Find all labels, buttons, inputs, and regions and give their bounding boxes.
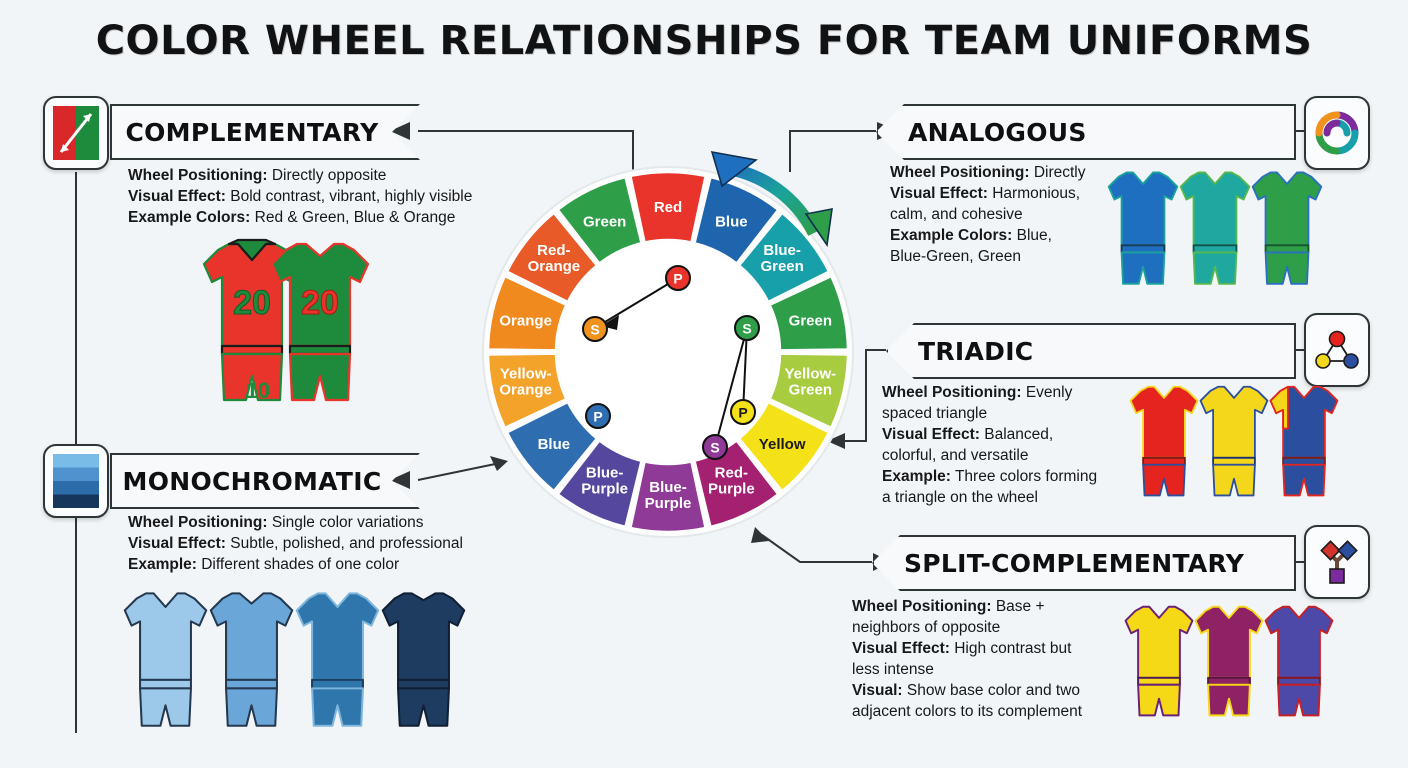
monochromatic-heading: MONOCHROMATIC bbox=[123, 467, 382, 496]
triadic-uniform-2 bbox=[1195, 378, 1273, 505]
monochromatic-uniform-2 bbox=[204, 583, 299, 736]
wheel-marker-s[interactable]: S bbox=[735, 316, 759, 340]
wheel-segment-label: Orange bbox=[499, 313, 552, 330]
triadic-body: Wheel Positioning: Evenly spaced triangl… bbox=[882, 382, 1132, 508]
wheel-segment-label: Blue-Green bbox=[760, 242, 803, 275]
analogous-ribbon[interactable]: ANALOGOUS bbox=[876, 104, 1296, 160]
row-value: Single color variations bbox=[272, 514, 424, 531]
svg-text:P: P bbox=[593, 409, 602, 425]
wheel-segment-label: Green bbox=[789, 313, 832, 330]
wheel-marker-p[interactable]: P bbox=[666, 266, 690, 290]
wheel-segment-label: Yellow-Green bbox=[784, 365, 836, 398]
wheel-segment-label: Yellow bbox=[759, 436, 806, 453]
svg-text:S: S bbox=[590, 322, 599, 338]
svg-text:S: S bbox=[710, 440, 719, 456]
complementary-swatch-icon bbox=[53, 106, 99, 160]
svg-text:20: 20 bbox=[301, 284, 339, 322]
split-complementary-ribbon[interactable]: SPLIT-COMPLEMENTARY bbox=[872, 535, 1296, 591]
row-value: Red & Green, Blue & Orange bbox=[255, 209, 456, 226]
wheel-segment-label: Blue bbox=[538, 436, 571, 453]
row-label: Wheel Positioning: bbox=[882, 384, 1022, 401]
complementary-ribbon[interactable]: COMPLEMENTARY bbox=[110, 104, 420, 160]
split-complementary-icon-badge[interactable] bbox=[1304, 525, 1370, 599]
wheel-segment-label: Yellow-Orange bbox=[499, 365, 552, 398]
row-value: Different shades of one color bbox=[201, 556, 399, 573]
color-wheel: RedBlueBlue-GreenGreenYellow-GreenYellow… bbox=[482, 166, 854, 538]
row-label: Visual Effect: bbox=[128, 188, 226, 205]
complementary-uniform-2: 20 bbox=[264, 234, 376, 409]
analogous-uniform-1 bbox=[1103, 163, 1183, 294]
triadic-triangle-icon bbox=[1314, 323, 1360, 377]
monochromatic-uniform-3 bbox=[290, 583, 385, 736]
row-value: Directly opposite bbox=[272, 167, 387, 184]
row-label: Example Colors: bbox=[128, 209, 250, 226]
row-value: Blue-Green, Green bbox=[890, 248, 1021, 265]
analogous-uniform-3 bbox=[1247, 163, 1327, 294]
triadic-ribbon[interactable]: TRIADIC bbox=[886, 323, 1296, 379]
wheel-segment-label: Red-Purple bbox=[708, 465, 755, 498]
complementary-icon-badge[interactable] bbox=[43, 96, 109, 170]
monochromatic-icon-badge[interactable] bbox=[43, 444, 109, 518]
row-value: Balanced, bbox=[984, 426, 1053, 443]
analogous-uniform-2 bbox=[1175, 163, 1255, 294]
monochromatic-swatch-icon bbox=[53, 454, 99, 508]
row-value: a triangle on the wheel bbox=[882, 489, 1038, 506]
complementary-body: Wheel Positioning: Directly opposite Vis… bbox=[128, 165, 528, 228]
row-value: Show base color and two bbox=[907, 682, 1080, 699]
row-value: colorful, and versatile bbox=[882, 447, 1028, 464]
split-complementary-heading: SPLIT-COMPLEMENTARY bbox=[904, 549, 1244, 578]
monochromatic-ribbon[interactable]: MONOCHROMATIC bbox=[110, 453, 420, 509]
row-value: Evenly bbox=[1026, 384, 1073, 401]
analogous-icon-badge[interactable] bbox=[1304, 96, 1370, 170]
row-value: Three colors forming bbox=[955, 468, 1097, 485]
split-complementary-uniform-1 bbox=[1120, 595, 1198, 728]
svg-text:P: P bbox=[673, 271, 682, 287]
row-value: Subtle, polished, and professional bbox=[230, 535, 463, 552]
monochromatic-uniform-4 bbox=[376, 583, 471, 736]
triadic-icon-badge[interactable] bbox=[1304, 313, 1370, 387]
triadic-heading: TRIADIC bbox=[918, 337, 1033, 366]
row-value: less intense bbox=[852, 661, 934, 678]
wheel-segment-label: Blue bbox=[715, 213, 748, 230]
wheel-segment-label: Green bbox=[583, 213, 626, 230]
row-value: Directly bbox=[1034, 164, 1086, 181]
complementary-heading: COMPLEMENTARY bbox=[125, 118, 378, 147]
page-title: COLOR WHEEL RELATIONSHIPS FOR TEAM UNIFO… bbox=[0, 18, 1408, 64]
row-value: High contrast but bbox=[954, 640, 1071, 657]
wheel-segment-label: Blue-Purple bbox=[581, 465, 628, 498]
wheel-segment-label: Red bbox=[654, 199, 682, 216]
row-label: Visual Effect: bbox=[852, 640, 950, 657]
wheel-segment-label: Blue-Purple bbox=[645, 479, 692, 512]
split-complementary-uniform-3 bbox=[1260, 595, 1338, 728]
row-label: Visual: bbox=[852, 682, 903, 699]
row-label: Wheel Positioning: bbox=[128, 167, 268, 184]
row-value: Bold contrast, vibrant, highly visible bbox=[230, 188, 472, 205]
wheel-marker-s[interactable]: S bbox=[703, 435, 727, 459]
row-label: Example: bbox=[882, 468, 951, 485]
analogous-body: Wheel Positioning: Directly Visual Effec… bbox=[890, 162, 1100, 267]
row-label: Wheel Positioning: bbox=[852, 598, 992, 615]
row-label: Wheel Positioning: bbox=[890, 164, 1030, 181]
wheel-marker-p[interactable]: P bbox=[731, 400, 755, 424]
wheel-marker-s[interactable]: S bbox=[583, 317, 607, 341]
monochromatic-uniform-1 bbox=[118, 583, 213, 736]
row-value: adjacent colors to its complement bbox=[852, 703, 1082, 720]
monochromatic-body: Wheel Positioning: Single color variatio… bbox=[128, 512, 528, 575]
wheel-marker-p[interactable]: P bbox=[586, 404, 610, 428]
row-label: Example: bbox=[128, 556, 197, 573]
split-complementary-uniform-2 bbox=[1190, 595, 1268, 728]
row-label: Visual Effect: bbox=[128, 535, 226, 552]
row-label: Wheel Positioning: bbox=[128, 514, 268, 531]
svg-text:P: P bbox=[738, 405, 747, 421]
row-value: calm, and cohesive bbox=[890, 206, 1023, 223]
triadic-uniform-1 bbox=[1125, 378, 1203, 505]
triadic-uniform-3 bbox=[1265, 378, 1343, 505]
svg-text:S: S bbox=[742, 321, 751, 337]
infographic-canvas: COLOR WHEEL RELATIONSHIPS FOR TEAM UNIFO… bbox=[0, 0, 1408, 768]
analogous-spiral-icon bbox=[1314, 106, 1360, 160]
row-label: Example Colors: bbox=[890, 227, 1012, 244]
analogous-heading: ANALOGOUS bbox=[908, 118, 1087, 147]
row-value: Blue, bbox=[1017, 227, 1052, 244]
split-complementary-body: Wheel Positioning: Base + neighbors of o… bbox=[852, 596, 1152, 722]
row-value: Harmonious, bbox=[992, 185, 1080, 202]
split-complementary-y-icon bbox=[1314, 535, 1360, 589]
row-label: Visual Effect: bbox=[882, 426, 980, 443]
row-value: spaced triangle bbox=[882, 405, 987, 422]
row-label: Visual Effect: bbox=[890, 185, 988, 202]
row-value: neighbors of opposite bbox=[852, 619, 1000, 636]
row-value: Base + bbox=[996, 598, 1045, 615]
